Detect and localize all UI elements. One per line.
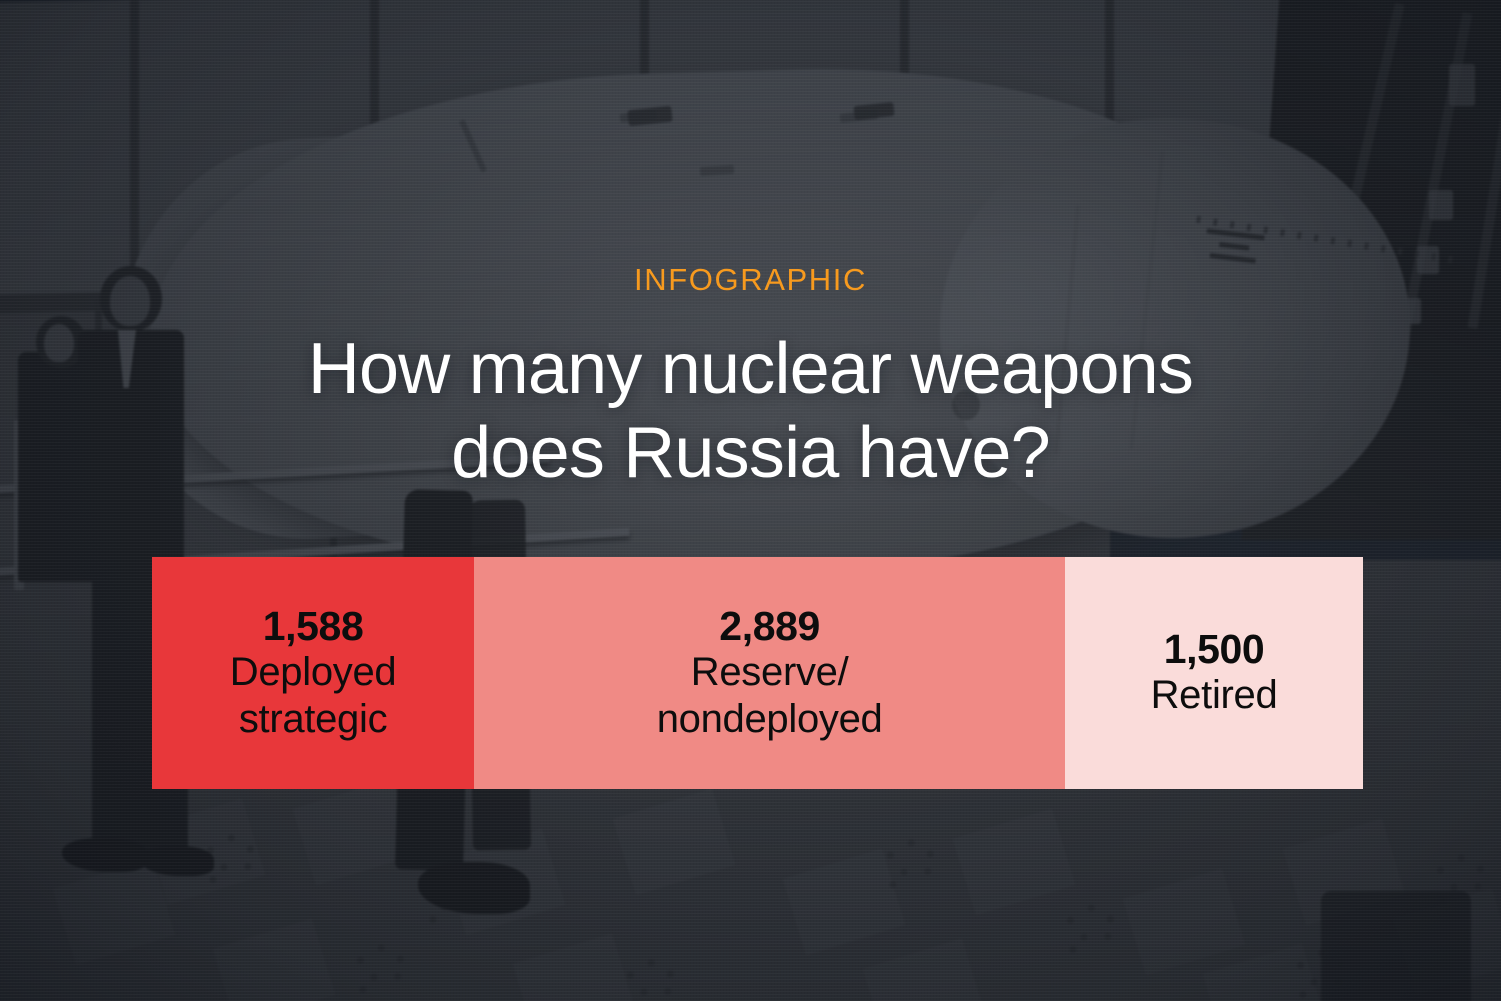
segment-label-line-2: strategic [239,696,387,743]
segment-label-line-1: Deployed [230,649,397,696]
infographic-content: INFOGRAPHIC How many nuclear weapons doe… [0,0,1501,1001]
segment-value: 1,500 [1164,627,1265,672]
headline-line-1: How many nuclear weapons [0,328,1501,412]
segment-label-line-2: nondeployed [657,696,883,743]
kicker-label: INFOGRAPHIC [0,262,1501,298]
bar-segment-deployed-strategic[interactable]: 1,588 Deployed strategic [152,557,474,789]
infographic-canvas: INFOGRAPHIC How many nuclear weapons doe… [0,0,1501,1001]
page-title: How many nuclear weapons does Russia hav… [0,328,1501,495]
stacked-bar-chart: 1,588 Deployed strategic 2,889 Reserve/ … [152,557,1363,789]
segment-label-line-1: Reserve/ [691,649,849,696]
headline-line-2: does Russia have? [0,412,1501,496]
bar-segment-reserve-nondeployed[interactable]: 2,889 Reserve/ nondeployed [474,557,1065,789]
segment-value: 1,588 [263,604,364,649]
segment-label-line-1: Retired [1151,672,1278,719]
bar-segment-retired[interactable]: 1,500 Retired [1065,557,1363,789]
segment-value: 2,889 [719,604,820,649]
